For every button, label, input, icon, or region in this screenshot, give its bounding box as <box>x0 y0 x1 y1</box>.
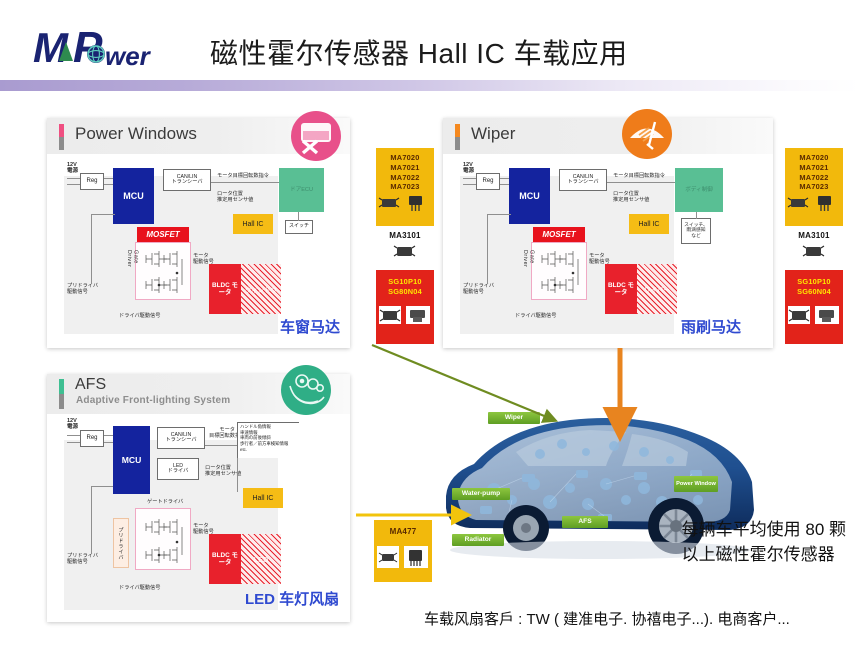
parts-column-wiper: MA7020 MA7021 MA7022 MA7023 <box>781 148 847 346</box>
motor-command-label: モータ目標回転数指令 <box>613 174 665 180</box>
part-number: SG60N04 <box>797 287 831 297</box>
mcu-box: MCU <box>113 426 150 494</box>
load-box: LED <box>241 534 281 584</box>
package-photos <box>785 301 843 331</box>
part-number: MA7021 <box>799 163 828 173</box>
rotor-sensor-label: ロータ位置 推定用センサ値 <box>217 192 253 204</box>
part-number: MA7020 <box>799 153 828 163</box>
accent-bar <box>455 124 460 150</box>
can-lin-transceiver-box: CAN/LIN トランシーバ <box>559 169 607 191</box>
h-bridge-region <box>135 508 191 570</box>
part-group-red[interactable]: SG10P10 SG60N04 <box>785 270 843 344</box>
mosfet-label: MOSFET <box>533 227 585 242</box>
hall-ic-box: Hall IC <box>233 214 273 234</box>
panel-subtitle: Adaptive Front-lighting System <box>76 395 230 406</box>
car-tag-water-pump: Water-pump <box>452 488 510 500</box>
bldc-motor-box: BLDC モータ <box>209 534 241 584</box>
cn-caption: 雨刷马达 <box>681 316 741 337</box>
part-group-white[interactable]: MA3101 <box>785 228 843 268</box>
package-photos <box>376 301 434 331</box>
pre-driver-label: プリドライバ 駆動信号 <box>67 284 98 296</box>
can-lin-transceiver-box: CAN/LIN トランシーバ <box>157 427 205 449</box>
car-tag-power-window: Power Window <box>674 476 718 492</box>
page-title: 磁性霍尔传感器 Hall IC 车载应用 <box>210 32 628 72</box>
door-ecu-box: ドアECU <box>279 168 324 212</box>
schematic-power-windows: 12V 電源 Reg MCU CAN/LIN トランシーバ モータ目標回転数指令… <box>47 154 350 348</box>
part-group-red[interactable]: SG10P10 SG80N04 <box>376 270 434 344</box>
supply-label: 12V 電源 <box>463 162 474 175</box>
car-tag-wiper: Wiper <box>488 412 540 424</box>
led-driver-box: LED ドライバ <box>157 458 199 480</box>
h-bridge-region <box>531 242 587 300</box>
body-control-label: ボディ制御 <box>675 185 723 193</box>
afs-inputs-list: ハンドル角情報 車速情報 車両の前後傾斜 歩行者／前方車検知情報 etc. <box>237 422 299 458</box>
package-photos <box>376 242 434 262</box>
mcu-label: MCU <box>122 456 142 465</box>
hall-ic-box: Hall IC <box>243 488 283 508</box>
gate-driver-label: Gate Driver <box>522 250 534 267</box>
hall-ic-box: Hall IC <box>629 214 669 234</box>
pre-driver-box: プリドライバ <box>113 518 129 568</box>
supply-label: 12V 電源 <box>67 418 78 431</box>
switch-box: スイッチ、 雨滴感知 など <box>681 218 711 244</box>
regulator-box: Reg <box>476 173 500 190</box>
load-box: ウィンドウ <box>241 264 281 314</box>
part-number: SG80N04 <box>388 287 422 297</box>
headlight-icon <box>280 364 332 416</box>
rotor-sensor-label: ロータ位置 推定用センサ値 <box>613 192 649 204</box>
part-number: MA7023 <box>799 182 828 192</box>
mcu-label: MCU <box>519 192 540 201</box>
part-number: MA7022 <box>799 173 828 183</box>
schematic-afs: 12V 電源 Reg MCU CAN/LIN トランシーバ LED ドライバ モ… <box>47 414 350 622</box>
door-ecu-label: ドアECU <box>279 185 324 193</box>
mcu-box: MCU <box>509 168 550 224</box>
pre-driver-label: プリドライバ 駆動信号 <box>463 284 494 296</box>
parts-column-afs: MA477 <box>372 520 438 590</box>
panel-wiper[interactable]: Wiper 12V 電源 Reg MCU CAN/LIN トランシーバ モータ目… <box>443 118 773 348</box>
package-photos <box>374 542 432 576</box>
part-number: MA477 <box>390 527 417 538</box>
driver-signal-label: ドライバ駆動信号 <box>515 314 556 320</box>
mosfet-label: MOSFET <box>137 227 189 242</box>
mcu-box: MCU <box>113 168 154 224</box>
panel-title: Power Windows <box>75 124 197 144</box>
driver-signal-label: ドライバ駆動信号 <box>119 586 160 592</box>
part-number: MA7020 <box>390 153 419 163</box>
panel-afs[interactable]: AFS Adaptive Front-lighting System 12V 電… <box>47 374 350 622</box>
rotor-sensor-label: ロータ位置 推定用センサ値 <box>205 466 241 478</box>
panel-title: Wiper <box>471 124 515 144</box>
package-photos <box>785 242 843 262</box>
cn-caption: LED 车灯风扇 <box>245 588 339 609</box>
driver-signal-label: ドライバ駆動信号 <box>119 314 160 320</box>
load-box: ワイパー <box>637 264 677 314</box>
part-number: MA3101 <box>798 231 829 242</box>
regulator-box: Reg <box>80 430 104 447</box>
switch-box: スイッチ <box>285 220 313 234</box>
part-group-white[interactable]: MA3101 <box>376 228 434 268</box>
slide-root: M P wer 磁性霍尔传感器 Hall IC 车载应用 Power Windo… <box>0 0 860 646</box>
schematic-wiper: 12V 電源 Reg MCU CAN/LIN トランシーバ モータ目標回転数指令… <box>443 154 773 348</box>
car-tag-afs: AFS <box>562 516 608 528</box>
part-group-yellow[interactable]: MA7020 MA7021 MA7022 MA7023 <box>376 148 434 226</box>
part-number: MA7021 <box>390 163 419 173</box>
part-number: SG10P10 <box>797 277 831 287</box>
cn-caption: 车窗马达 <box>280 316 340 337</box>
car-tag-radiator: Radiator <box>452 534 504 546</box>
package-photos <box>376 192 434 214</box>
accent-bar <box>59 379 64 409</box>
svg-text:wer: wer <box>105 41 152 71</box>
bldc-motor-box: BLDC モータ <box>209 264 241 314</box>
can-lin-transceiver-box: CAN/LIN トランシーバ <box>163 169 211 191</box>
h-bridge-region <box>135 242 191 300</box>
pre-driver-box-label: プリドライバ <box>118 527 125 560</box>
mpower-logo: M P wer <box>33 26 193 72</box>
windshield-wiper-icon <box>621 108 673 160</box>
svg-text:M: M <box>33 26 69 71</box>
part-number: MA7023 <box>390 182 419 192</box>
header-divider-strip <box>0 80 860 91</box>
customers-note: 车载风扇客戶 : TW ( 建准电子. 协禧电子...). 电商客户... <box>424 608 790 629</box>
part-number: MA3101 <box>389 231 420 242</box>
gate-driver-label: Gate Driver <box>126 250 138 267</box>
accent-bar <box>59 124 64 150</box>
bldc-motor-box: BLDC モータ <box>605 264 637 314</box>
supply-label: 12V 電源 <box>67 162 78 175</box>
part-number: MA7022 <box>390 173 419 183</box>
part-number: SG10P10 <box>388 277 422 287</box>
panel-title: AFS <box>75 376 106 394</box>
gate-driver-label: ゲートドライバ <box>147 500 183 506</box>
pre-driver-label: プリドライバ 駆動信号 <box>67 554 98 566</box>
slide-header: M P wer 磁性霍尔传感器 Hall IC 车载应用 <box>0 0 860 78</box>
package-photos <box>785 192 843 214</box>
part-group-yellow[interactable]: MA477 <box>374 520 432 582</box>
body-control-box: ボディ制御 <box>675 168 723 212</box>
panel-power-windows[interactable]: Power Windows 12V 電源 Reg MCU CAN/LIN トラン… <box>47 118 350 348</box>
motor-command-label: モータ目標回転数指令 <box>217 174 269 180</box>
regulator-box: Reg <box>80 173 104 190</box>
parts-column-power-windows: MA7020 MA7021 MA7022 MA7023 <box>372 148 438 346</box>
avg-usage-note: 每辆车平均使用 80 颗 以上磁性霍尔传感器 <box>682 518 846 567</box>
mcu-label: MCU <box>123 192 144 201</box>
part-group-yellow[interactable]: MA7020 MA7021 MA7022 MA7023 <box>785 148 843 226</box>
